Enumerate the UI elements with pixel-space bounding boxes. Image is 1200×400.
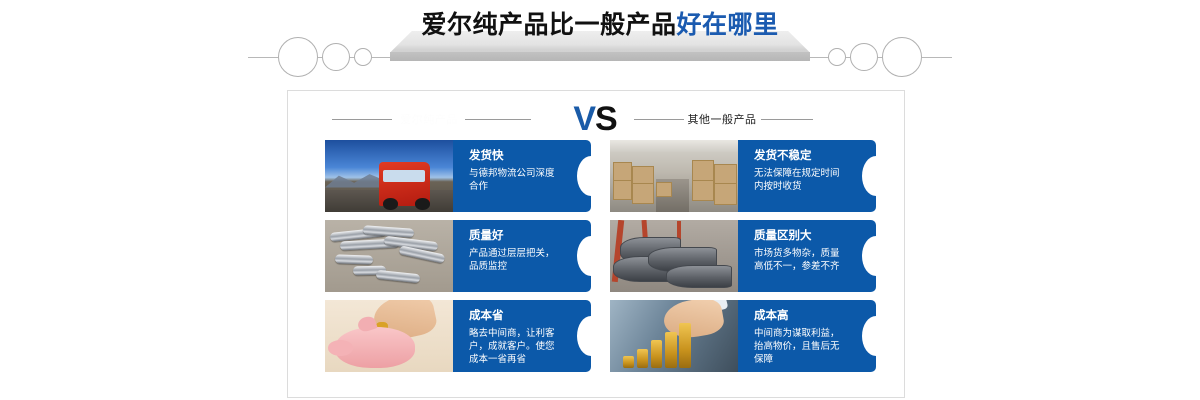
card-others-1[interactable]: 发货不稳定 无法保障在规定时间内按时收货 [610,140,876,212]
card-ours-1-image [325,140,453,212]
card-ours-2-notch [577,236,591,276]
decor-circle-right-2 [850,43,878,71]
card-others-2-image [610,220,738,292]
card-others-1-body: 发货不稳定 无法保障在规定时间内按时收货 [738,140,876,212]
card-others-3-image [610,300,738,372]
vs-rule-left-inner [465,119,531,120]
vs-label-ours: 爱尔纯产品 [395,111,463,127]
card-others-1-image [610,140,738,212]
card-ours-2-desc: 产品通过层层把关，品质监控 [469,247,561,273]
decor-circle-left-2 [322,43,350,71]
card-others-2-desc: 市场货多物杂，质量高低不一，参差不齐 [754,247,846,273]
vs-letter-v: V [573,100,595,138]
card-ours-3[interactable]: 成本省 略去中间商，让利客户，成就客户。使您成本一省再省 [325,300,591,372]
vs-label-others: 其他一般产品 [687,111,757,127]
card-others-3-notch [862,316,876,356]
page-title-main: 爱尔纯产品比一般产品 [421,10,676,39]
card-ours-1-body: 发货快 与德邦物流公司深度合作 [453,140,591,212]
card-others-3-desc: 中间商为谋取利益，抬高物价，且售后无保障 [754,327,846,366]
card-others-1-notch [862,156,876,196]
card-others-2-title: 质量区别大 [754,229,846,242]
card-others-1-title: 发货不稳定 [754,149,846,162]
decor-connector-left-3 [372,57,392,58]
title-plaque-shadow [390,52,810,61]
card-others-2-body: 质量区别大 市场货多物杂，质量高低不一，参差不齐 [738,220,876,292]
vs-badge: VS [562,100,628,138]
card-ours-1[interactable]: 发货快 与德邦物流公司深度合作 [325,140,591,212]
card-ours-2-title: 质量好 [469,229,561,242]
card-others-2[interactable]: 质量区别大 市场货多物杂，质量高低不一，参差不齐 [610,220,876,292]
decor-connector-right-3 [808,57,828,58]
page-title: 爱尔纯产品比一般产品好在哪里 [0,10,1200,40]
card-ours-2-image [325,220,453,292]
vs-rule-left-outer [332,119,392,120]
card-ours-1-notch [577,156,591,196]
vs-header-row: 爱尔纯产品 VS 其他一般产品 [287,100,905,138]
card-others-1-desc: 无法保障在规定时间内按时收货 [754,167,846,193]
card-ours-3-desc: 略去中间商，让利客户，成就客户。使您成本一省再省 [469,327,561,366]
vs-rule-right-outer [761,119,813,120]
card-others-3[interactable]: 成本高 中间商为谋取利益，抬高物价，且售后无保障 [610,300,876,372]
decor-circle-left-1 [278,37,318,77]
card-ours-1-desc: 与德邦物流公司深度合作 [469,167,561,193]
card-ours-1-title: 发货快 [469,149,561,162]
card-ours-3-notch [577,316,591,356]
decor-circle-right-3 [828,48,846,66]
card-ours-2[interactable]: 质量好 产品通过层层把关，品质监控 [325,220,591,292]
page-header: 爱尔纯产品比一般产品好在哪里 [0,0,1200,90]
card-ours-3-title: 成本省 [469,309,561,322]
card-others-3-title: 成本高 [754,309,846,322]
header-rule-right [922,57,952,58]
decor-circle-right-1 [882,37,922,77]
page-title-accent: 好在哪里 [677,10,779,39]
card-ours-3-image [325,300,453,372]
card-ours-2-body: 质量好 产品通过层层把关，品质监控 [453,220,591,292]
vs-letter-s: S [595,100,617,138]
column-our-products: 发货快 与德邦物流公司深度合作 质量好 产品通过层层把关，品质监控 [325,140,591,380]
vs-rule-right-inner [634,119,684,120]
card-others-3-body: 成本高 中间商为谋取利益，抬高物价，且售后无保障 [738,300,876,372]
header-rule-left [248,57,278,58]
card-others-2-notch [862,236,876,276]
card-ours-3-body: 成本省 略去中间商，让利客户，成就客户。使您成本一省再省 [453,300,591,372]
column-other-products: 发货不稳定 无法保障在规定时间内按时收货 质量区别大 市场货多物杂，质量高低不一… [610,140,876,380]
decor-circle-left-3 [354,48,372,66]
